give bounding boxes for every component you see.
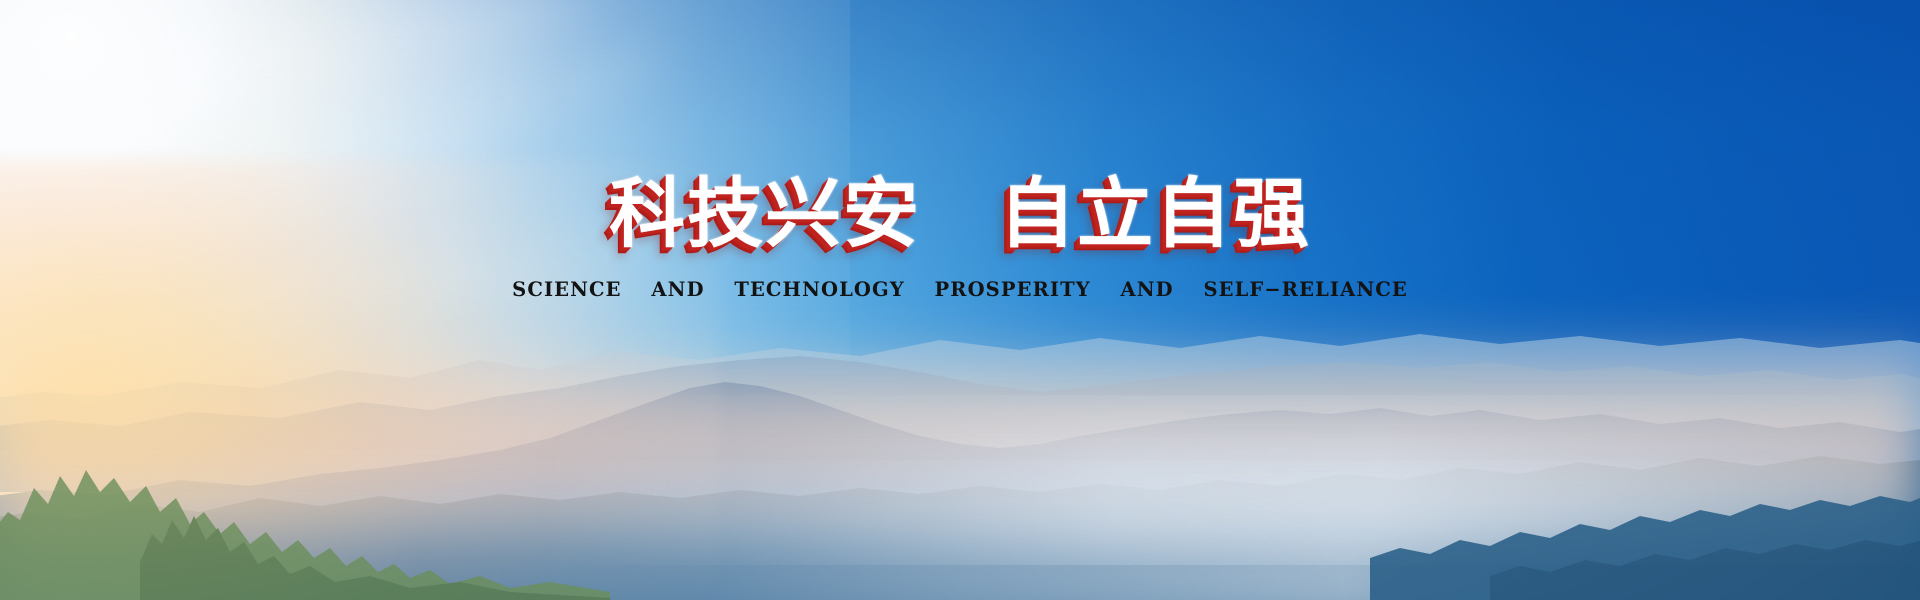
banner-title-block: 科技兴安 自立自强 SCIENCE AND TECHNOLOGY PROSPER… [0, 176, 1920, 301]
banner-headline: 科技兴安 自立自强 [0, 176, 1920, 252]
banner-subtitle: SCIENCE AND TECHNOLOGY PROSPERITY AND SE… [0, 278, 1920, 301]
foreground-trees-left [0, 416, 610, 600]
foreground-trees-right [1370, 446, 1920, 600]
hero-banner: 科技兴安 自立自强 SCIENCE AND TECHNOLOGY PROSPER… [0, 0, 1920, 600]
mountain-landscape [0, 270, 1920, 600]
